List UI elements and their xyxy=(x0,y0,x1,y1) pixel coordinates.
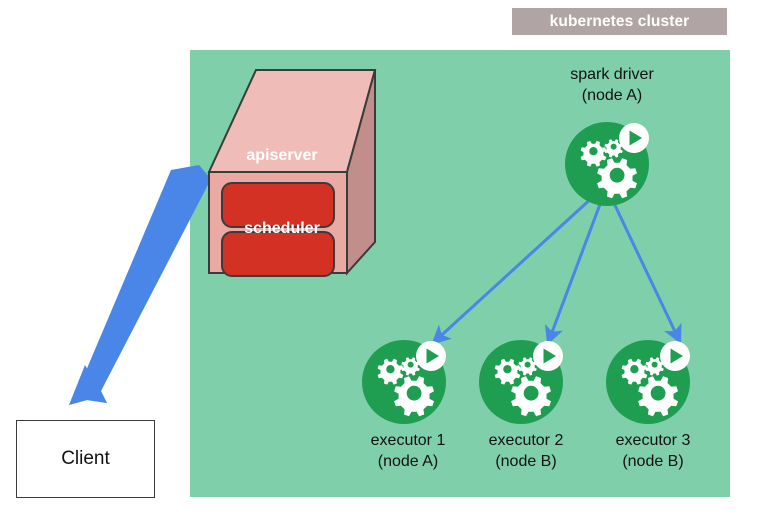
diagram-canvas: kubernetes cluster Client spark-submit a… xyxy=(0,0,761,516)
cluster-title-badge: kubernetes cluster xyxy=(512,8,727,35)
spark-driver-caption: spark driver (node A) xyxy=(536,64,688,106)
cluster-title-text: kubernetes cluster xyxy=(550,13,690,31)
play-icon xyxy=(533,341,563,371)
spark-driver-caption-line2: (node A) xyxy=(536,85,688,106)
spark-driver-caption-line1: spark driver xyxy=(536,64,688,85)
executor-3-node xyxy=(604,330,700,426)
play-icon xyxy=(619,123,649,153)
executor-1-node xyxy=(360,330,456,426)
play-icon xyxy=(416,341,446,371)
spark-submit-label: spark-submit xyxy=(68,177,110,266)
client-box: Client xyxy=(16,420,155,498)
client-label: Client xyxy=(61,448,110,470)
kubernetes-control-plane-cube xyxy=(200,60,380,285)
spark-driver-node xyxy=(563,112,659,208)
executor-3-caption-line1: executor 3 xyxy=(577,430,729,451)
play-icon xyxy=(660,341,690,371)
executor-3-caption-line2: (node B) xyxy=(577,451,729,472)
executor-3-caption: executor 3 (node B) xyxy=(577,430,729,472)
executor-2-node xyxy=(477,330,573,426)
